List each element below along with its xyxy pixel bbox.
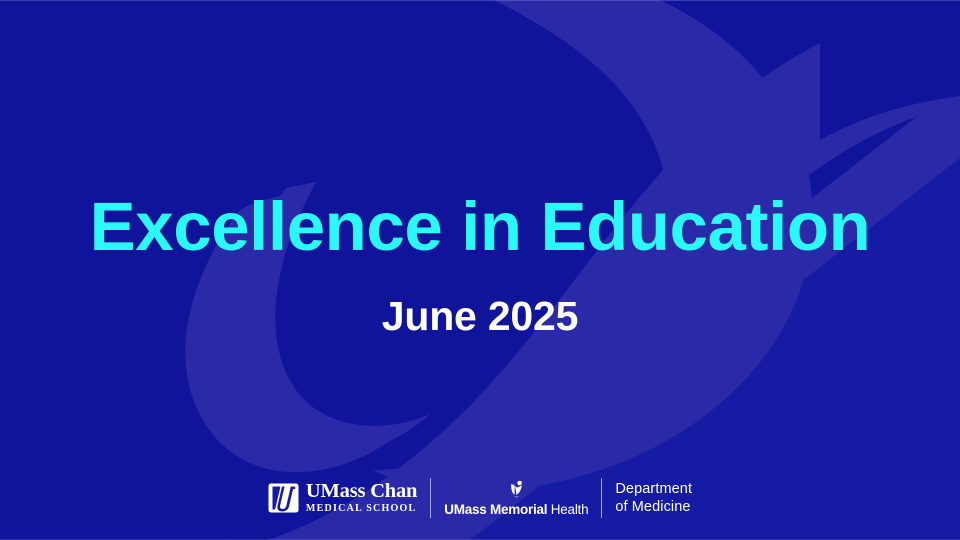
- department-line-2: of Medicine: [615, 498, 692, 516]
- umass-memorial-wordmark: UMass Memorial Health: [444, 502, 588, 517]
- title-slide: Excellence in Education June 2025 UMass …: [0, 0, 960, 540]
- logo-umass-memorial-health: UMass Memorial Health: [431, 476, 601, 520]
- background-artwork: [0, 0, 960, 540]
- umass-chan-tagline: MEDICAL SCHOOL: [306, 503, 417, 515]
- logo-lockup-bar: UMass Chan MEDICAL SCHOOL UMass Memorial…: [0, 472, 960, 524]
- umass-chan-u-monogram-icon: [268, 483, 299, 513]
- logo-umass-chan: UMass Chan MEDICAL SCHOOL: [255, 476, 430, 520]
- umass-memorial-tulip-icon: [507, 480, 526, 500]
- department-line-1: Department: [615, 480, 692, 498]
- umass-memorial-name: UMass Memorial: [444, 502, 547, 517]
- umass-memorial-suffix: Health: [547, 502, 588, 517]
- logo-department-of-medicine: Department of Medicine: [602, 476, 705, 520]
- umass-chan-name: UMass Chan: [306, 481, 417, 502]
